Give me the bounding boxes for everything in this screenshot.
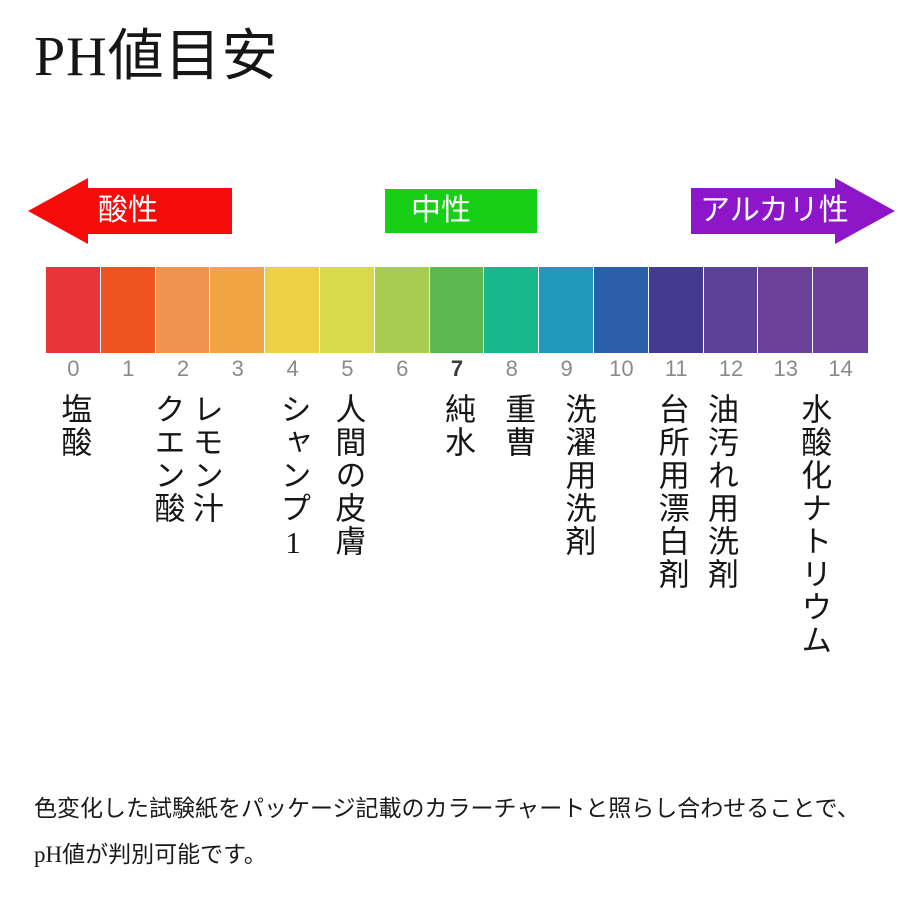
- ph-swatch-14: [813, 267, 868, 353]
- ph-color-scale: [46, 267, 868, 353]
- ph-tick-7: 7: [430, 356, 485, 382]
- ph-substance-label: クエン酸: [150, 393, 184, 525]
- ph-tick-5: 5: [320, 356, 375, 382]
- ph-swatch-12: [704, 267, 759, 353]
- ph-swatch-9: [539, 267, 594, 353]
- ph-category-banner-row: 酸性 中性 アルカリ性: [0, 178, 900, 250]
- ph-substance-label: 純水: [440, 393, 474, 459]
- ph-swatch-7: [430, 267, 485, 353]
- ph-substance-label: 人間の皮膚: [330, 393, 364, 558]
- ph-tick-10: 10: [594, 356, 649, 382]
- alkaline-banner-label: アルカリ性: [700, 196, 849, 226]
- ph-substance-label: 水酸化ナトリウム: [796, 393, 830, 657]
- ph-chart-page: PH値目安 酸性 中性 アルカリ性 01234567891011121314 塩…: [0, 0, 900, 900]
- ph-tick-12: 12: [704, 356, 759, 382]
- ph-swatch-8: [484, 267, 539, 353]
- ph-tick-2: 2: [156, 356, 211, 382]
- ph-swatch-1: [101, 267, 156, 353]
- neutral-banner-label: 中性: [411, 196, 471, 226]
- ph-tick-labels: 01234567891011121314: [46, 356, 868, 382]
- ph-tick-6: 6: [375, 356, 430, 382]
- ph-tick-8: 8: [484, 356, 539, 382]
- ph-tick-13: 13: [758, 356, 813, 382]
- ph-substance-label: シャンプ1: [276, 393, 310, 562]
- ph-tick-4: 4: [265, 356, 320, 382]
- acid-banner-label: 酸性: [98, 196, 158, 226]
- ph-swatch-10: [594, 267, 649, 353]
- ph-tick-9: 9: [539, 356, 594, 382]
- ph-swatch-3: [210, 267, 265, 353]
- ph-tick-14: 14: [813, 356, 868, 382]
- ph-tick-1: 1: [101, 356, 156, 382]
- ph-substance-labels: 塩酸クエン酸レモン汁シャンプ1人間の皮膚純水重曹洗濯用洗剤台所用漂白剤油汚れ用洗…: [0, 393, 900, 723]
- caption-line-1: 色変化した試験紙をパッケージ記載のカラーチャートと照らし合わせることで、: [34, 786, 874, 832]
- ph-substance-label: 洗濯用洗剤: [561, 393, 595, 558]
- ph-swatch-0: [46, 267, 101, 353]
- ph-swatch-4: [265, 267, 320, 353]
- caption: 色変化した試験紙をパッケージ記載のカラーチャートと照らし合わせることで、 pH値…: [34, 786, 874, 878]
- ph-tick-11: 11: [649, 356, 704, 382]
- ph-substance-label: 塩酸: [56, 393, 90, 459]
- ph-swatch-5: [320, 267, 375, 353]
- ph-swatch-6: [375, 267, 430, 353]
- ph-swatch-11: [649, 267, 704, 353]
- ph-tick-3: 3: [210, 356, 265, 382]
- ph-swatch-13: [758, 267, 813, 353]
- ph-swatch-2: [156, 267, 211, 353]
- page-title: PH値目安: [34, 24, 279, 90]
- ph-substance-label: レモン汁: [188, 393, 222, 525]
- ph-substance-label: 重曹: [500, 393, 534, 459]
- left-arrow-icon: [28, 178, 88, 244]
- ph-substance-label: 油汚れ用洗剤: [703, 393, 737, 591]
- ph-substance-label: 台所用漂白剤: [654, 393, 688, 591]
- caption-line-2: pH値が判別可能です。: [34, 832, 874, 878]
- ph-tick-0: 0: [46, 356, 101, 382]
